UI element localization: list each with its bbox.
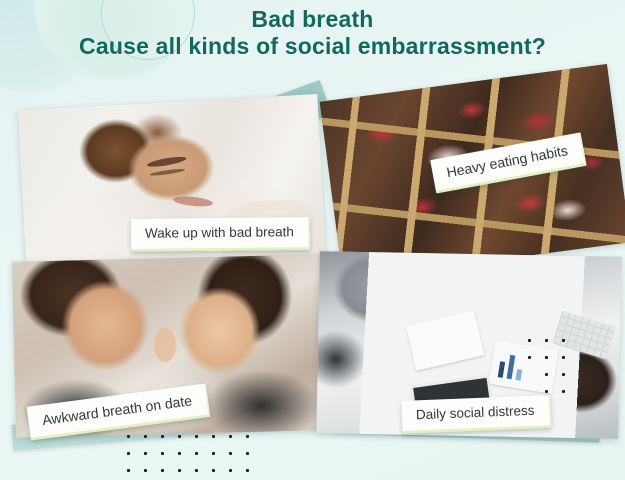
caption-daily-distress: Daily social distress — [401, 395, 551, 434]
headline-line-2: Cause all kinds of social embarrassment? — [0, 33, 625, 60]
headline-line-1: Bad breath — [0, 6, 625, 33]
poster-headline: Bad breath Cause all kinds of social emb… — [0, 6, 625, 60]
caption-wake-up: Wake up with bad breath — [131, 217, 310, 252]
poster-canvas: Bad breath Cause all kinds of social emb… — [0, 0, 625, 480]
